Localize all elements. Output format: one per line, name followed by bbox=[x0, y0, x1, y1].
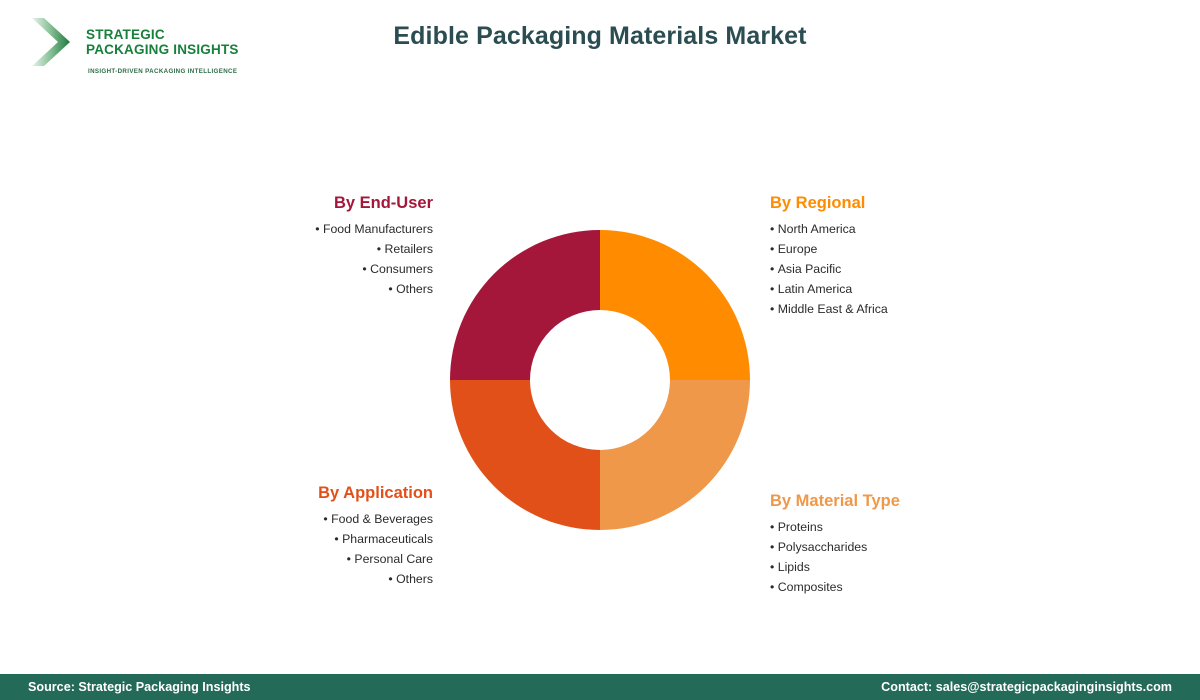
page-title: Edible Packaging Materials Market bbox=[0, 22, 1200, 51]
list-item: Pharmaceuticals bbox=[205, 529, 433, 549]
list-item: Others bbox=[205, 569, 433, 589]
donut-segment-application bbox=[450, 380, 600, 530]
category-application-list: Food & Beverages Pharmaceuticals Persona… bbox=[205, 509, 433, 589]
donut-chart bbox=[450, 230, 750, 530]
list-item: Europe bbox=[770, 239, 1000, 259]
logo-tagline: INSIGHT-DRIVEN PACKAGING INTELLIGENCE bbox=[88, 68, 237, 75]
footer-bar: Source: Strategic Packaging Insights Con… bbox=[0, 674, 1200, 700]
list-item: Retailers bbox=[215, 239, 433, 259]
category-application: By Application Food & Beverages Pharmace… bbox=[205, 483, 433, 589]
list-item: Consumers bbox=[215, 259, 433, 279]
list-item: Others bbox=[215, 279, 433, 299]
list-item: Lipids bbox=[770, 557, 1000, 577]
list-item: Food Manufacturers bbox=[215, 219, 433, 239]
infographic-page: STRATEGIC PACKAGING INSIGHTS INSIGHT-DRI… bbox=[0, 0, 1200, 700]
donut-segment-material-type bbox=[600, 380, 750, 530]
list-item: Composites bbox=[770, 577, 1000, 597]
list-item: Asia Pacific bbox=[770, 259, 1000, 279]
category-regional: By Regional North America Europe Asia Pa… bbox=[770, 193, 1000, 319]
list-item: Personal Care bbox=[205, 549, 433, 569]
list-item: Polysaccharides bbox=[770, 537, 1000, 557]
list-item: Middle East & Africa bbox=[770, 299, 1000, 319]
category-material-type-heading: By Material Type bbox=[770, 491, 1000, 511]
footer-contact-text: Contact: sales@strategicpackaginginsight… bbox=[881, 674, 1172, 700]
category-material-type-list: Proteins Polysaccharides Lipids Composit… bbox=[770, 517, 1000, 597]
category-application-heading: By Application bbox=[205, 483, 433, 503]
category-regional-list: North America Europe Asia Pacific Latin … bbox=[770, 219, 1000, 319]
category-material-type: By Material Type Proteins Polysaccharide… bbox=[770, 491, 1000, 597]
category-end-user-list: Food Manufacturers Retailers Consumers O… bbox=[215, 219, 433, 299]
footer-source-text: Source: Strategic Packaging Insights bbox=[28, 674, 251, 700]
category-end-user: By End-User Food Manufacturers Retailers… bbox=[215, 193, 433, 299]
donut-segment-regional bbox=[600, 230, 750, 380]
list-item: Food & Beverages bbox=[205, 509, 433, 529]
donut-segment-end-user bbox=[450, 230, 600, 380]
category-regional-heading: By Regional bbox=[770, 193, 1000, 213]
list-item: North America bbox=[770, 219, 1000, 239]
list-item: Latin America bbox=[770, 279, 1000, 299]
list-item: Proteins bbox=[770, 517, 1000, 537]
category-end-user-heading: By End-User bbox=[215, 193, 433, 213]
